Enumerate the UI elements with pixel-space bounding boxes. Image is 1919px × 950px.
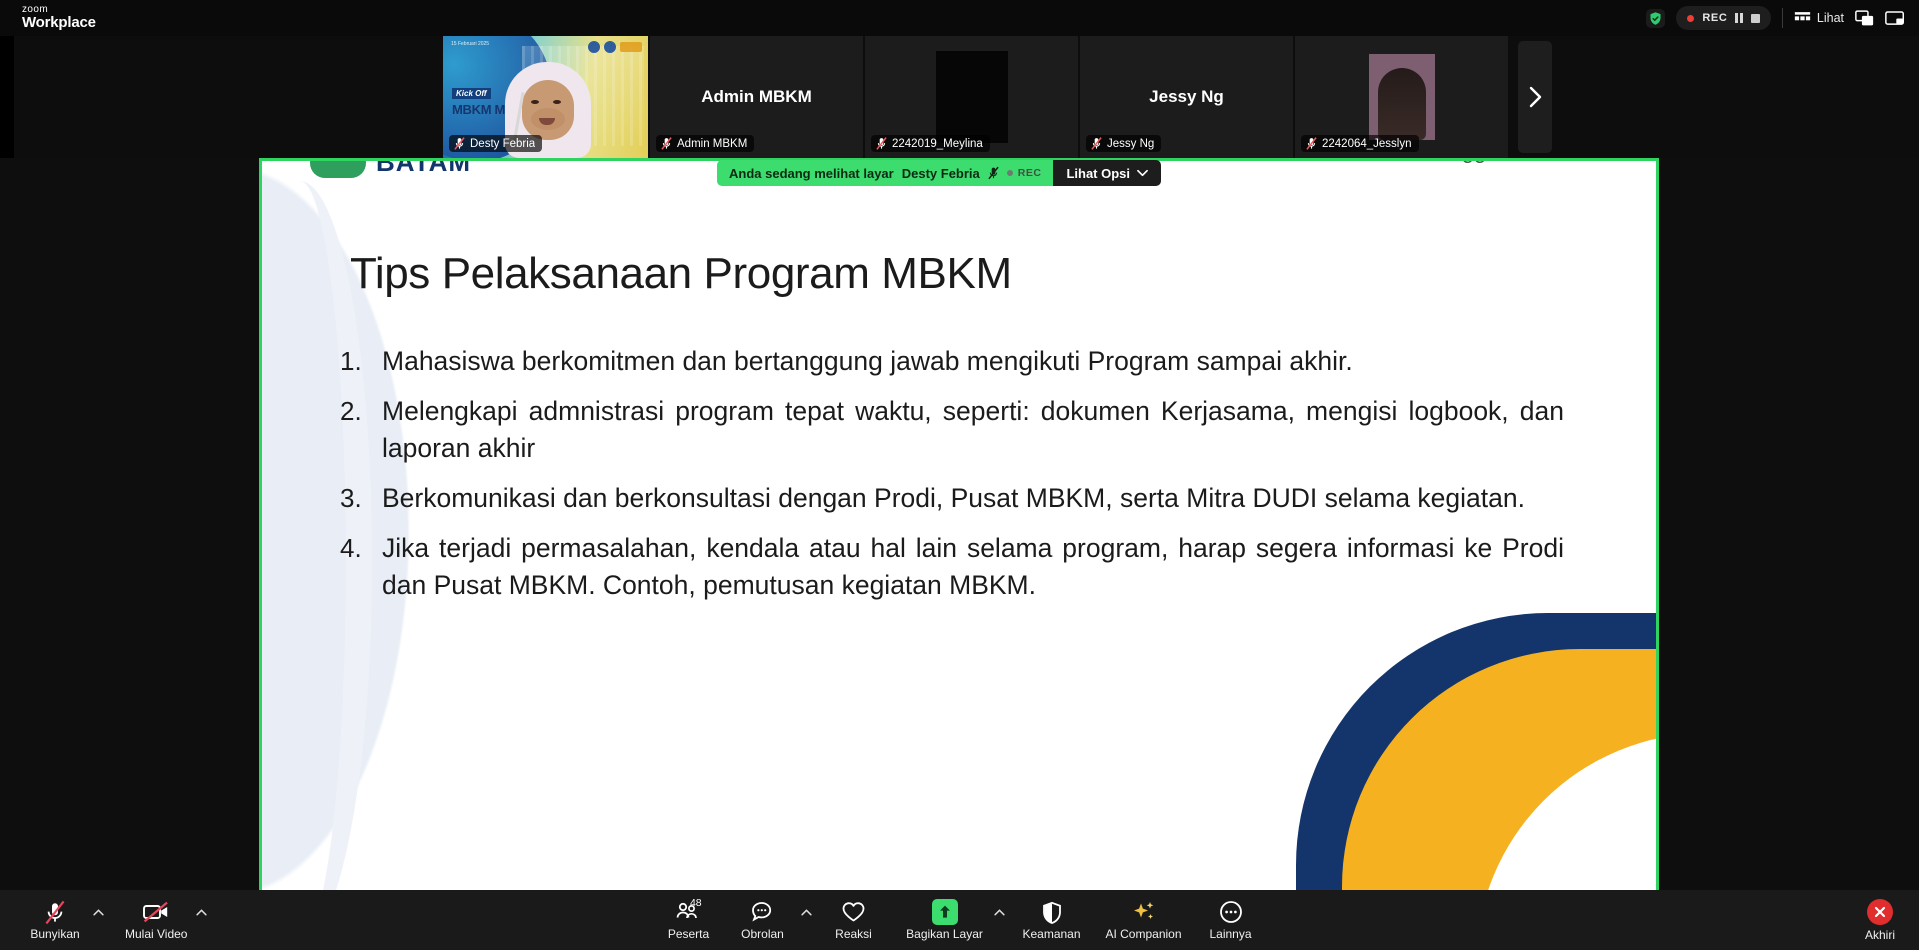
toolbar-right-group: Akhiri xyxy=(1865,899,1919,942)
banner-recording-label: REC xyxy=(1018,167,1042,179)
reactions-button[interactable]: Reaksi xyxy=(817,897,891,943)
video-tile-admin-mbkm[interactable]: Admin MBKM Admin MBKM xyxy=(650,36,863,158)
chat-label: Obrolan xyxy=(741,927,784,941)
end-call-icon xyxy=(1867,899,1893,925)
vb-date-text: 15 Februari 2025 xyxy=(451,41,489,47)
slide-item-text: Jika terjadi permasalahan, kendala atau … xyxy=(382,530,1564,604)
tile-name-text: 2242064_Jesslyn xyxy=(1322,138,1412,150)
video-tile-2242064-jesslyn[interactable]: 2242064_Jesslyn xyxy=(1295,36,1508,158)
start-video-button[interactable]: Mulai Video xyxy=(117,897,195,943)
slide-bullet-list: 1. Mahasiswa berkomitmen dan bertanggung… xyxy=(340,343,1564,618)
more-options-button[interactable]: Lainnya xyxy=(1194,897,1268,943)
brand-workplace-text: Workplace xyxy=(22,15,96,30)
slide-item-text: Melengkapi admnistrasi program tepat wak… xyxy=(382,393,1564,467)
mic-off-icon xyxy=(1306,137,1317,150)
minimize-window-icon xyxy=(1885,10,1905,27)
slide-logo-secondary: oo xyxy=(1462,158,1486,169)
share-status-pill: Anda sedang melihat layar Desty Febria R… xyxy=(717,160,1053,186)
recording-label: REC xyxy=(1702,12,1727,24)
share-status-text: Anda sedang melihat layar xyxy=(729,166,894,181)
zoom-workplace-logo: zoom Workplace xyxy=(22,5,96,30)
security-label: Keamanan xyxy=(1022,927,1080,941)
mic-off-icon xyxy=(876,137,887,150)
view-layout-button[interactable]: Lihat xyxy=(1794,11,1844,26)
video-tile-jessy-ng[interactable]: Jessy Ng Jessy Ng xyxy=(1080,36,1293,158)
minimize-window-button[interactable] xyxy=(1885,10,1905,27)
more-options-label: Lainnya xyxy=(1209,927,1251,941)
toolbar-left-group: Bunyikan Mulai Video xyxy=(0,897,212,943)
slide-item-number: 4. xyxy=(340,530,382,604)
mic-off-icon xyxy=(1091,137,1102,150)
participant-photo xyxy=(1369,54,1435,140)
slide-item-text: Berkomunikasi dan berkonsultasi dengan P… xyxy=(382,480,1525,517)
tile-center-name: Jessy Ng xyxy=(1149,87,1224,107)
tile-name-badge: 2242019_Meylina xyxy=(871,135,990,152)
more-dots-icon xyxy=(1219,900,1243,924)
chat-icon xyxy=(751,901,775,923)
participant-filmstrip: 15 Februari 2025 Kick Off MBKM Mandiri xyxy=(0,36,1919,158)
presentation-slide: BATAM oo Tips Pelaksanaan Program MBKM 1… xyxy=(262,161,1656,893)
meeting-toolbar: Bunyikan Mulai Video xyxy=(0,890,1919,950)
app-title-bar: zoom Workplace REC Lihat xyxy=(0,0,1919,36)
chat-options-caret[interactable] xyxy=(800,897,817,921)
reactions-label: Reaksi xyxy=(835,927,872,941)
video-off-icon xyxy=(142,901,170,923)
tile-name-badge: Jessy Ng xyxy=(1086,135,1161,152)
chevron-up-icon xyxy=(196,909,207,916)
slide-list-item: 4. Jika terjadi permasalahan, kendala at… xyxy=(340,530,1564,604)
security-shield-icon xyxy=(1041,901,1063,924)
tile-name-text: 2242019_Meylina xyxy=(892,138,983,150)
unmute-button[interactable]: Bunyikan xyxy=(18,897,92,943)
start-video-label: Mulai Video xyxy=(125,927,187,941)
view-options-button[interactable]: Lihat Opsi xyxy=(1053,160,1161,186)
slide-item-text: Mahasiswa berkomitmen dan bertanggung ja… xyxy=(382,343,1353,380)
end-meeting-button[interactable]: Akhiri xyxy=(1865,899,1895,942)
slide-logo-mark xyxy=(310,158,366,178)
unmute-label: Bunyikan xyxy=(30,927,79,941)
tile-name-text: Desty Febria xyxy=(470,138,535,150)
chevron-up-icon xyxy=(994,909,1005,916)
heart-icon xyxy=(841,901,866,923)
ai-sparkle-icon xyxy=(1131,900,1157,924)
audio-options-caret[interactable] xyxy=(92,897,109,921)
chevron-up-icon xyxy=(93,909,104,916)
dark-webcam-feed xyxy=(936,51,1008,143)
share-screen-button[interactable]: Bagikan Layar xyxy=(897,897,993,943)
screen-share-status-banner: Anda sedang melihat layar Desty Febria R… xyxy=(717,160,1161,186)
pause-recording-icon[interactable] xyxy=(1735,13,1743,23)
share-options-caret[interactable] xyxy=(993,897,1010,921)
shared-screen-stage: BATAM oo Tips Pelaksanaan Program MBKM 1… xyxy=(0,158,1919,903)
end-meeting-label: Akhiri xyxy=(1865,928,1895,942)
video-options-caret[interactable] xyxy=(195,897,212,921)
participants-button[interactable]: 48 Peserta xyxy=(652,897,726,943)
security-button[interactable]: Keamanan xyxy=(1010,897,1094,943)
slide-item-number: 3. xyxy=(340,480,382,517)
tile-name-badge: Admin MBKM xyxy=(656,135,754,152)
chat-button[interactable]: Obrolan xyxy=(726,897,800,943)
slide-list-item: 3. Berkomunikasi dan berkonsultasi denga… xyxy=(340,480,1564,517)
slide-logo: BATAM xyxy=(310,158,471,178)
encryption-shield-icon[interactable] xyxy=(1646,9,1665,28)
picture-in-picture-button[interactable] xyxy=(1855,10,1874,27)
view-options-label: Lihat Opsi xyxy=(1066,166,1130,181)
chevron-up-icon xyxy=(801,909,812,916)
recording-indicator: REC xyxy=(1676,6,1771,30)
video-tile-desty-febria[interactable]: 15 Februari 2025 Kick Off MBKM Mandiri xyxy=(443,36,648,158)
mic-off-icon xyxy=(44,900,66,925)
slide-brand-text: BATAM xyxy=(376,158,471,178)
stop-recording-icon[interactable] xyxy=(1751,14,1760,23)
recording-dot-icon xyxy=(1687,15,1694,22)
slide-list-item: 2. Melengkapi admnistrasi program tepat … xyxy=(340,393,1564,467)
tile-name-text: Jessy Ng xyxy=(1107,138,1154,150)
toolbar-center-group: 48 Peserta Obrolan xyxy=(652,897,1268,943)
slide-item-number: 2. xyxy=(340,393,382,467)
slide-item-number: 1. xyxy=(340,343,382,380)
recording-dot-icon xyxy=(1007,170,1013,176)
shared-screen-frame: BATAM oo Tips Pelaksanaan Program MBKM 1… xyxy=(259,158,1659,896)
share-presenter-name: Desty Febria xyxy=(902,166,980,181)
video-tile-2242019-meylina[interactable]: 2242019_Meylina xyxy=(865,36,1078,158)
participants-label: Peserta xyxy=(668,927,709,941)
mic-off-icon xyxy=(454,137,465,150)
participants-count: 48 xyxy=(690,897,702,909)
slide-list-item: 1. Mahasiswa berkomitmen dan bertanggung… xyxy=(340,343,1564,380)
grid-view-icon xyxy=(1794,11,1811,26)
tile-name-badge: Desty Febria xyxy=(449,135,542,152)
tile-name-badge: 2242064_Jesslyn xyxy=(1301,135,1419,152)
vb-kickoff-text: Kick Off xyxy=(452,88,491,99)
filmstrip-next-page-button[interactable] xyxy=(1518,41,1552,153)
chevron-down-icon xyxy=(1137,169,1148,177)
ai-companion-button[interactable]: AI Companion xyxy=(1094,897,1194,943)
ai-companion-label: AI Companion xyxy=(1105,927,1181,941)
vb-logos xyxy=(588,41,642,53)
mic-off-icon xyxy=(661,137,672,150)
view-label: Lihat xyxy=(1817,11,1844,25)
banner-recording-indicator: REC xyxy=(1007,167,1042,179)
mic-off-icon xyxy=(988,166,999,180)
chevron-right-icon xyxy=(1528,86,1543,108)
slide-title: Tips Pelaksanaan Program MBKM xyxy=(350,249,1012,299)
tile-name-text: Admin MBKM xyxy=(677,138,747,150)
tile-center-name: Admin MBKM xyxy=(701,87,811,107)
titlebar-right-controls: REC Lihat xyxy=(1646,6,1919,30)
share-screen-label: Bagikan Layar xyxy=(906,927,983,941)
picture-in-picture-icon xyxy=(1855,10,1874,27)
share-screen-icon xyxy=(932,899,958,925)
titlebar-divider xyxy=(1782,8,1783,28)
